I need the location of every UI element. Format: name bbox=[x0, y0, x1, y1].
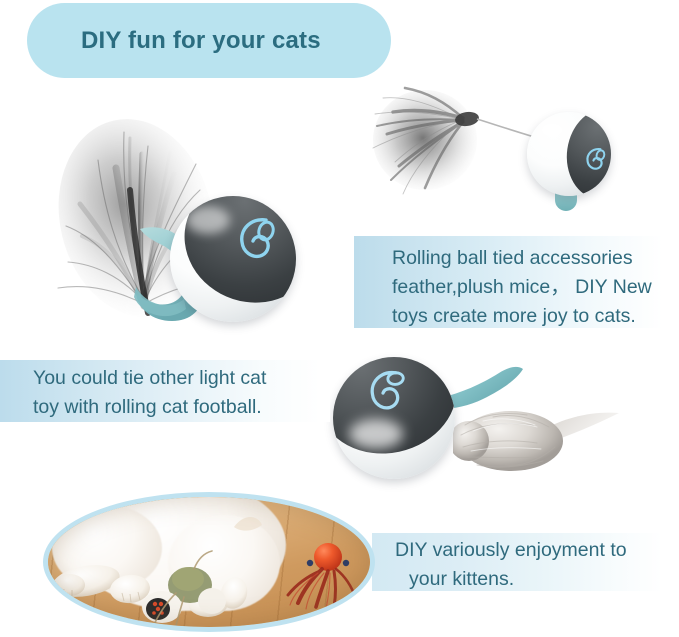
rolling-ball bbox=[333, 357, 455, 479]
photo-vignette bbox=[48, 497, 370, 627]
cat-photo-oval bbox=[43, 492, 375, 632]
ball-gloss bbox=[186, 206, 230, 234]
page-title: DIY fun for your cats bbox=[81, 27, 321, 55]
caption-line: toy with rolling cat football. bbox=[33, 393, 330, 422]
rolling-ball bbox=[170, 196, 296, 322]
caption-diy-enjoyment: DIY variously enjoyment to your kittens. bbox=[372, 533, 662, 591]
caption-rolling-ball-accessories: Rolling ball tied accessories feather,pl… bbox=[354, 236, 679, 328]
spiral-swirl-icon bbox=[579, 146, 609, 176]
caption-line: Rolling ball tied accessories bbox=[392, 244, 679, 273]
rolling-ball bbox=[527, 112, 611, 196]
plush-mouse-icon bbox=[453, 391, 623, 491]
spiral-swirl-icon bbox=[357, 367, 411, 421]
ball-gloss bbox=[537, 120, 567, 140]
caption-line: feather,plush mice， DIY New bbox=[392, 273, 679, 302]
ball-gloss bbox=[349, 419, 403, 449]
caption-tie-other-toy: You could tie other light cat toy with r… bbox=[0, 360, 330, 422]
caption-line: DIY variously enjoyment to bbox=[395, 536, 662, 565]
caption-line: toys create more joy to cats. bbox=[392, 302, 679, 331]
caption-line: your kittens. bbox=[395, 565, 662, 594]
product-mouse-ball bbox=[305, 345, 605, 490]
caption-line: You could tie other light cat bbox=[33, 364, 330, 393]
header-banner: DIY fun for your cats bbox=[27, 3, 391, 78]
product-string-feather-ball bbox=[365, 80, 665, 210]
product-main-feather-ball bbox=[40, 108, 330, 333]
spiral-swirl-icon bbox=[226, 214, 282, 270]
cat-photo-inner bbox=[48, 497, 370, 627]
